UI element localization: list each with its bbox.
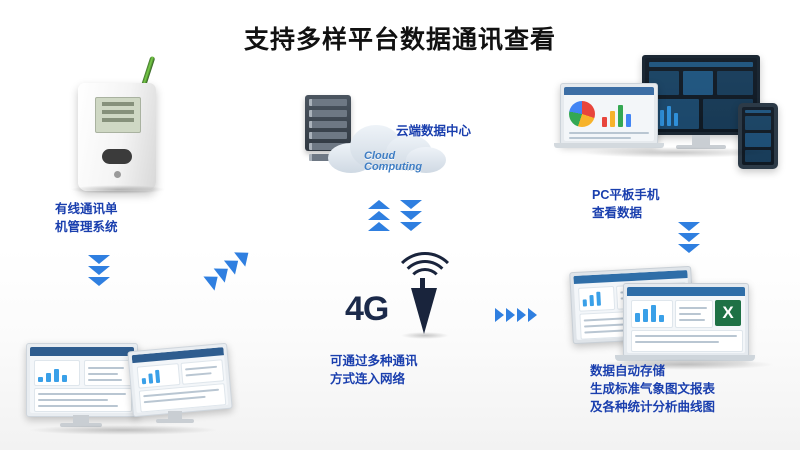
arrow-monitors-to-cloud <box>203 244 258 294</box>
arrow-tower-to-cloud <box>368 200 390 233</box>
caption-logger: 有线通讯单 机管理系统 <box>55 200 118 236</box>
laptop-front-screen: X <box>627 287 745 353</box>
laptop-top-right <box>560 83 658 145</box>
tower-shadow <box>401 332 449 339</box>
data-logger-device <box>60 55 190 190</box>
logger-body <box>78 83 156 191</box>
monitor-left-stand <box>73 415 89 423</box>
cloud-computing-label: Cloud Computing <box>364 151 422 173</box>
diagram-canvas: 支持多样平台数据通讯查看 有线通讯单 机管理系统 <box>0 0 800 450</box>
logger-button <box>102 149 132 164</box>
pc-tablet-phone-group <box>560 55 780 195</box>
laptop-front: X <box>623 283 749 357</box>
pc-cluster-shadow <box>580 147 770 158</box>
network-badge-4g: 4G <box>345 290 388 329</box>
arrow-logger-to-monitors <box>88 255 110 288</box>
monitor-left <box>26 343 138 417</box>
monitor-right-screen <box>132 347 229 413</box>
caption-devices: PC平板手机 查看数据 <box>592 186 659 222</box>
monitor-left-screen <box>30 347 134 413</box>
logger-led-icon <box>114 171 121 178</box>
caption-network: 可通过多种通讯 方式连入网络 <box>330 352 418 388</box>
arrow-cloud-to-tower <box>400 200 422 233</box>
desktop-monitor-stand <box>692 135 710 145</box>
logger-lcd-screen <box>95 97 141 133</box>
laptop-screen <box>564 87 654 141</box>
pie-chart-icon <box>569 101 595 127</box>
caption-cloud: 云端数据中心 <box>396 122 471 140</box>
monitors-shadow <box>28 425 218 435</box>
arrow-tower-to-reports <box>495 308 539 327</box>
excel-icon: X <box>715 300 741 326</box>
monitor-right-base <box>156 419 194 423</box>
dual-monitor-group <box>18 335 228 435</box>
page-title: 支持多样平台数据通讯查看 <box>0 20 800 56</box>
arrow-devices-to-reports <box>678 222 700 255</box>
tablet-device <box>738 103 778 169</box>
monitor-right-stand <box>168 411 182 419</box>
caption-reports: 数据自动存储 生成标准气象图文报表 及各种统计分析曲线图 <box>590 362 715 416</box>
logger-shadow <box>70 185 166 194</box>
monitor-right <box>127 343 232 417</box>
tower-mast-icon <box>411 288 437 334</box>
cellular-tower-group: 4G <box>345 270 455 350</box>
